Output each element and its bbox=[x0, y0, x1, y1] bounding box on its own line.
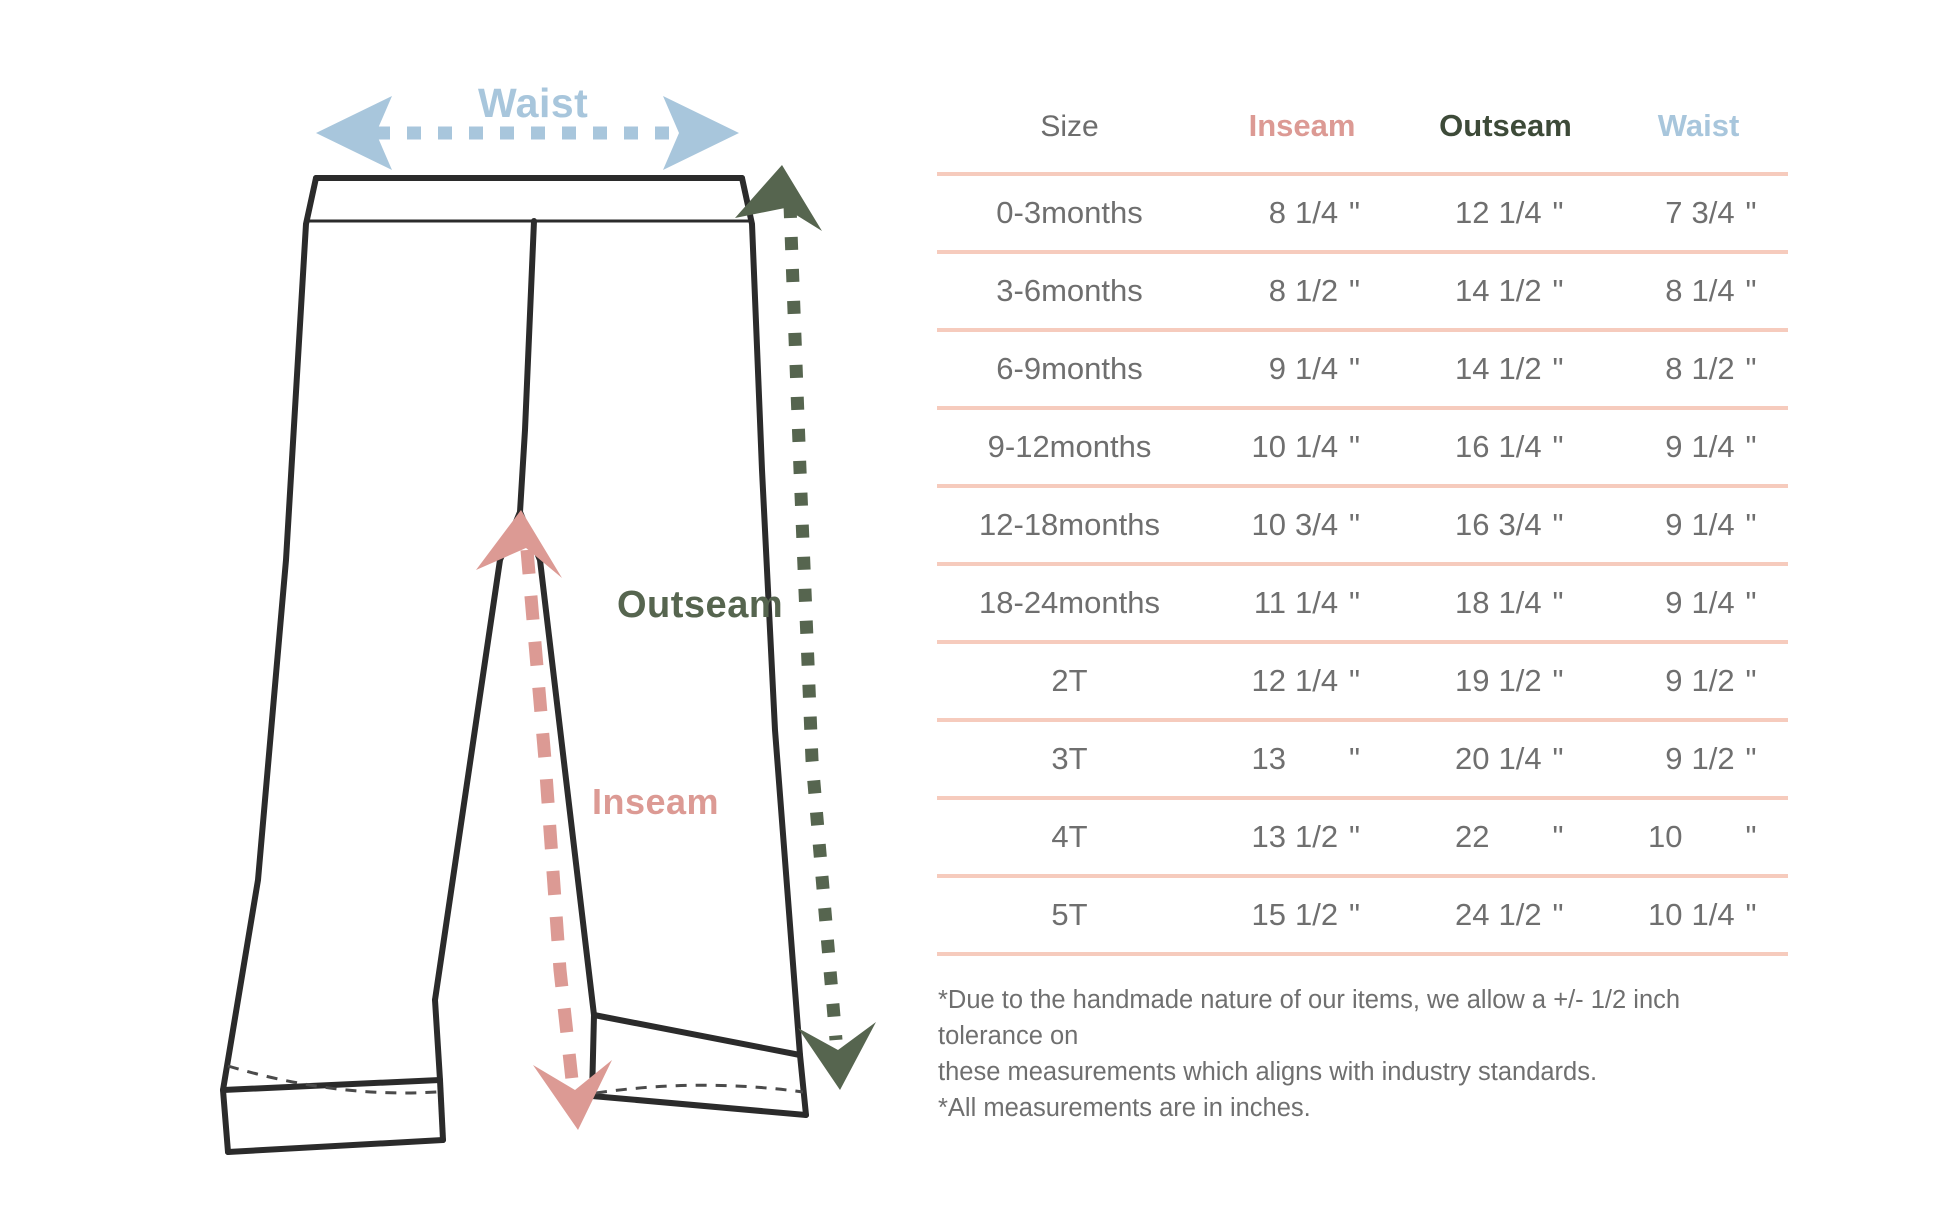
table-row: 9-12months101/4"161/4"91/4" bbox=[937, 408, 1788, 486]
table-header-row: Size Inseam Outseam Waist bbox=[937, 108, 1788, 174]
cell-waist: 101/4" bbox=[1609, 876, 1788, 954]
table-row: 6-9months91/4"141/2"81/2" bbox=[937, 330, 1788, 408]
cell-outseam: 141/2" bbox=[1402, 252, 1609, 330]
cell-inseam: 111/4" bbox=[1202, 564, 1402, 642]
cell-size: 5T bbox=[937, 876, 1202, 954]
cell-size: 12-18months bbox=[937, 486, 1202, 564]
cell-inseam: 13" bbox=[1202, 720, 1402, 798]
table-row: 4T131/2"22"10" bbox=[937, 798, 1788, 876]
pants-diagram: Waist Outseam Inseam bbox=[0, 0, 930, 1209]
inseam-diagram-label: Inseam bbox=[592, 784, 719, 820]
cell-waist: 91/4" bbox=[1609, 486, 1788, 564]
cell-size: 6-9months bbox=[937, 330, 1202, 408]
cell-inseam: 101/4" bbox=[1202, 408, 1402, 486]
footnote-line-2: these measurements which aligns with ind… bbox=[938, 1054, 1768, 1090]
cell-inseam: 151/2" bbox=[1202, 876, 1402, 954]
cell-outseam: 22" bbox=[1402, 798, 1609, 876]
cell-outseam: 163/4" bbox=[1402, 486, 1609, 564]
column-header-size: Size bbox=[937, 108, 1202, 174]
cell-inseam: 91/4" bbox=[1202, 330, 1402, 408]
pants-outline bbox=[223, 178, 806, 1152]
cell-waist: 91/2" bbox=[1609, 720, 1788, 798]
cell-outseam: 191/2" bbox=[1402, 642, 1609, 720]
cell-inseam: 81/2" bbox=[1202, 252, 1402, 330]
cell-size: 18-24months bbox=[937, 564, 1202, 642]
cell-outseam: 241/2" bbox=[1402, 876, 1609, 954]
footnote-line-1: *Due to the handmade nature of our items… bbox=[938, 982, 1768, 1054]
footnote: *Due to the handmade nature of our items… bbox=[938, 982, 1768, 1126]
table-row: 0-3months81/4"121/4"73/4" bbox=[937, 174, 1788, 252]
cell-waist: 91/4" bbox=[1609, 564, 1788, 642]
cell-size: 4T bbox=[937, 798, 1202, 876]
table-row: 3-6months81/2"141/2"81/4" bbox=[937, 252, 1788, 330]
cell-inseam: 81/4" bbox=[1202, 174, 1402, 252]
cell-outseam: 181/4" bbox=[1402, 564, 1609, 642]
cell-size: 3-6months bbox=[937, 252, 1202, 330]
outseam-diagram-label: Outseam bbox=[617, 586, 783, 624]
cell-outseam: 141/2" bbox=[1402, 330, 1609, 408]
table-body: 0-3months81/4"121/4"73/4"3-6months81/2"1… bbox=[937, 174, 1788, 954]
pants-illustration-svg bbox=[0, 0, 930, 1209]
cell-waist: 91/2" bbox=[1609, 642, 1788, 720]
cell-outseam: 161/4" bbox=[1402, 408, 1609, 486]
cuff-hem-stitching bbox=[228, 1066, 803, 1093]
cell-inseam: 131/2" bbox=[1202, 798, 1402, 876]
cell-inseam: 103/4" bbox=[1202, 486, 1402, 564]
cell-inseam: 121/4" bbox=[1202, 642, 1402, 720]
cell-waist: 10" bbox=[1609, 798, 1788, 876]
table-row: 18-24months111/4"181/4"91/4" bbox=[937, 564, 1788, 642]
column-header-outseam: Outseam bbox=[1402, 108, 1609, 174]
cell-size: 3T bbox=[937, 720, 1202, 798]
footnote-line-3: *All measurements are in inches. bbox=[938, 1090, 1768, 1126]
size-chart-page: Waist Outseam Inseam Size Inseam Outseam… bbox=[0, 0, 1946, 1209]
size-table: Size Inseam Outseam Waist 0-3months81/4"… bbox=[937, 108, 1788, 956]
cell-outseam: 121/4" bbox=[1402, 174, 1609, 252]
cell-waist: 91/4" bbox=[1609, 408, 1788, 486]
waist-diagram-label: Waist bbox=[478, 83, 588, 124]
cell-waist: 73/4" bbox=[1609, 174, 1788, 252]
cell-size: 2T bbox=[937, 642, 1202, 720]
table-row: 5T151/2"241/2"101/4" bbox=[937, 876, 1788, 954]
table-row: 12-18months103/4"163/4"91/4" bbox=[937, 486, 1788, 564]
cell-size: 0-3months bbox=[937, 174, 1202, 252]
size-table-panel: Size Inseam Outseam Waist 0-3months81/4"… bbox=[937, 0, 1797, 1209]
column-header-waist: Waist bbox=[1609, 108, 1788, 174]
cell-waist: 81/4" bbox=[1609, 252, 1788, 330]
cell-waist: 81/2" bbox=[1609, 330, 1788, 408]
cell-outseam: 201/4" bbox=[1402, 720, 1609, 798]
table-row: 3T13"201/4"91/2" bbox=[937, 720, 1788, 798]
cell-size: 9-12months bbox=[937, 408, 1202, 486]
column-header-inseam: Inseam bbox=[1202, 108, 1402, 174]
table-row: 2T121/4"191/2"91/2" bbox=[937, 642, 1788, 720]
